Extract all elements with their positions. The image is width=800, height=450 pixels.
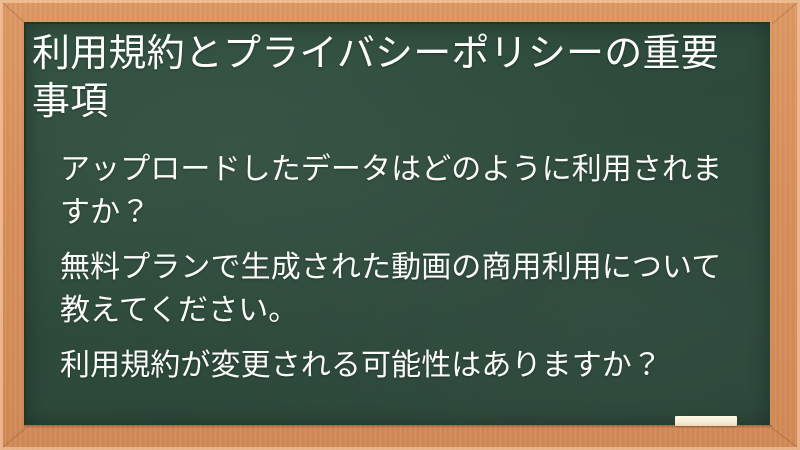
- chalk-tray-shadow: [24, 425, 772, 428]
- list-item: アップロードしたデータはどのように利用されますか？: [60, 148, 744, 234]
- list-item: 利用規約が変更される可能性はありますか？: [60, 344, 744, 387]
- page-title: 利用規約とプライバシーポリシーの重要事項: [32, 30, 744, 126]
- question-list: アップロードしたデータはどのように利用されますか？ 無料プランで生成された動画の…: [32, 148, 744, 387]
- chalkboard-slide: 利用規約とプライバシーポリシーの重要事項 アップロードしたデータはどのように利用…: [0, 0, 800, 450]
- list-item: 無料プランで生成された動画の商用利用について教えてください。: [60, 246, 744, 332]
- slide-content: 利用規約とプライバシーポリシーの重要事項 アップロードしたデータはどのように利用…: [24, 22, 770, 425]
